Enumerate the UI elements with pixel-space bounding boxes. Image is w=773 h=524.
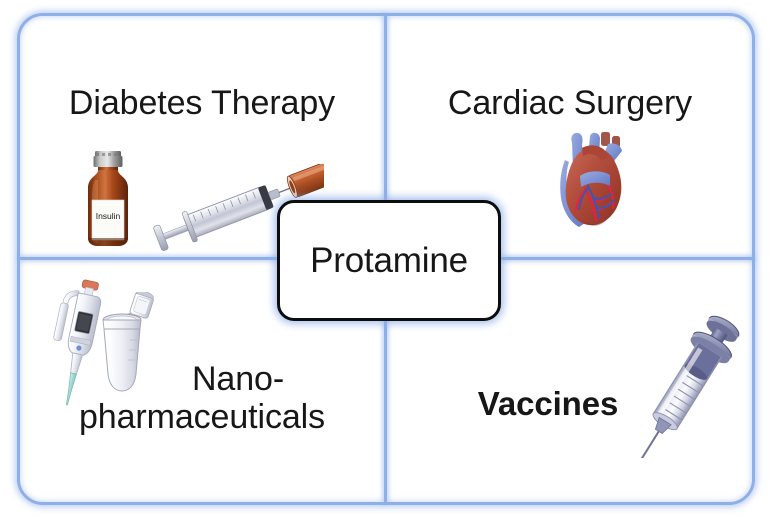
quadrant-label-cardiac-surgery: Cardiac Surgery: [387, 84, 753, 122]
center-node-label: Protamine: [310, 241, 468, 281]
vaccine-syringe-icon: [631, 308, 747, 463]
insulin-vial-icon: Insulin: [82, 150, 134, 253]
insulin-vial-label-text: Insulin: [96, 211, 121, 221]
center-node-protamine[interactable]: Protamine: [277, 200, 501, 321]
quadrant-label-diabetes-therapy: Diabetes Therapy: [20, 84, 384, 122]
anatomical-heart-icon: [552, 128, 636, 239]
diagram-canvas: Diabetes Therapy: [0, 0, 773, 524]
microcentrifuge-tube-icon: [96, 292, 158, 403]
